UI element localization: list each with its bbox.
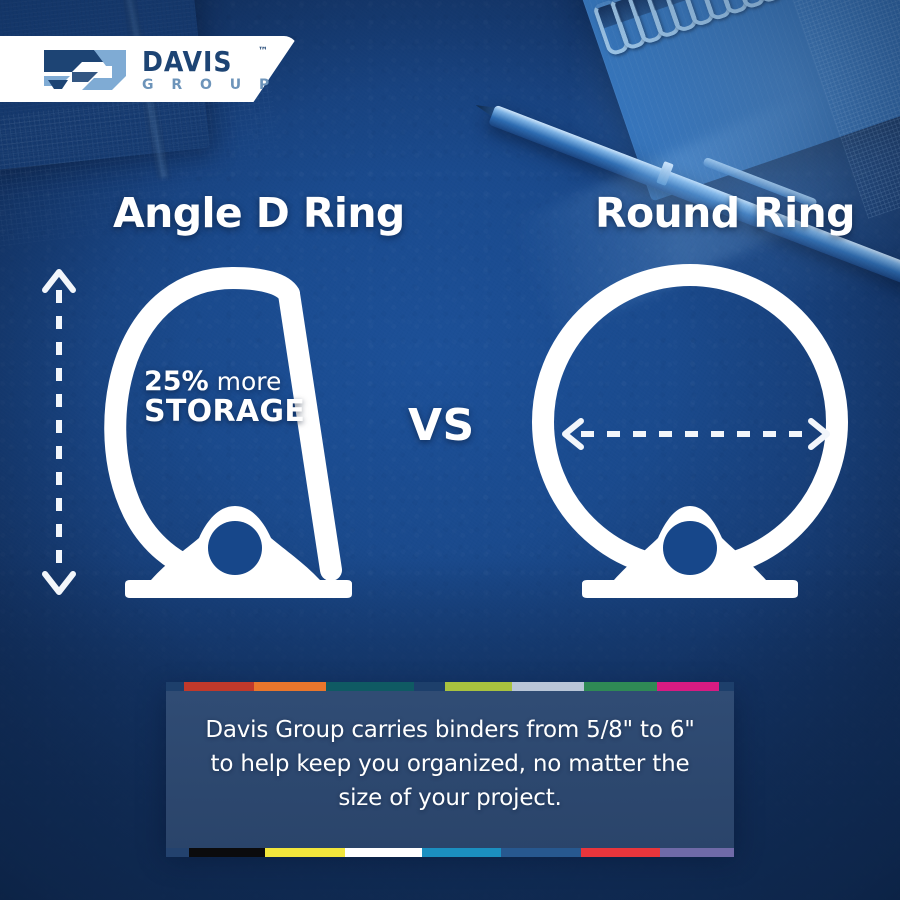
stripe-segment: [422, 848, 502, 857]
stripe-segment: [584, 682, 656, 691]
stripe-segment: [166, 682, 184, 691]
versus-label: VS: [408, 400, 475, 451]
brand-name-secondary: G R O U P: [142, 78, 276, 92]
stripe-segment: [445, 682, 512, 691]
storage-callout-line2: STORAGE: [144, 396, 305, 427]
stripe-segment: [326, 682, 414, 691]
stripe-segment: [414, 682, 445, 691]
dg-monogram-icon: [42, 46, 128, 94]
angle-d-ring-icon: [85, 262, 385, 602]
storage-more: more: [209, 367, 282, 396]
trademark-symbol: ™: [258, 46, 268, 57]
brand-wordmark: DAVIS G R O U P: [142, 48, 276, 92]
stripe-segment: [660, 848, 734, 857]
caption-text: Davis Group carries binders from 5/8" to…: [192, 713, 708, 815]
stripe-segment: [254, 682, 326, 691]
brand-name-primary: DAVIS: [142, 48, 276, 76]
storage-callout: 25% more STORAGE: [144, 368, 305, 427]
caption-stripes-bottom: [166, 848, 734, 857]
stripe-segment: [189, 848, 266, 857]
storage-percent: 25%: [144, 366, 209, 397]
brand-logo: DAVIS G R O U P: [42, 44, 276, 96]
horizontal-dashed-double-arrow-icon: [555, 414, 837, 454]
stripe-segment: [345, 848, 422, 857]
right-heading: Round Ring: [595, 189, 855, 237]
storage-callout-line1: 25% more: [144, 368, 305, 396]
caption-card: Davis Group carries binders from 5/8" to…: [166, 683, 734, 848]
caption-stripes-top: [166, 682, 734, 691]
stripe-segment: [512, 682, 584, 691]
stripe-segment: [501, 848, 581, 857]
vertical-dashed-double-arrow-icon: [36, 262, 82, 602]
infographic-canvas: DAVIS G R O U P ™ Angle D Ring Round Rin…: [0, 0, 900, 900]
stripe-segment: [581, 848, 661, 857]
stripe-segment: [657, 682, 719, 691]
left-heading: Angle D Ring: [113, 189, 405, 237]
stripe-segment: [184, 682, 254, 691]
stripe-segment: [265, 848, 345, 857]
stripe-segment: [719, 682, 734, 691]
stripe-segment: [166, 848, 189, 857]
